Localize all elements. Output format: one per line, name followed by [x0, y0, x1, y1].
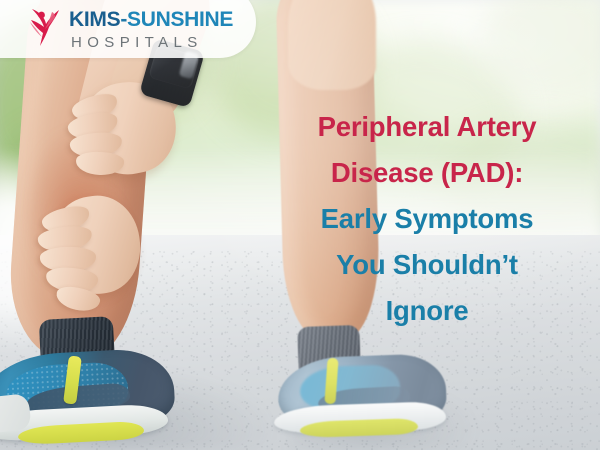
logo-wordmark: KIMS-SUNSHINE HOSPITALS	[69, 6, 233, 50]
headline-line-1: Peripheral Artery	[262, 104, 592, 150]
brand-logo[interactable]: KIMS-SUNSHINE HOSPITALS	[28, 6, 233, 50]
logo-subtitle: HOSPITALS	[69, 35, 233, 50]
kims-sunshine-figure-mark	[28, 6, 62, 48]
headline-line-3: Early Symptoms	[262, 196, 592, 242]
headline-line-2: Disease (PAD):	[262, 150, 592, 196]
pad-awareness-poster: KIMS-SUNSHINE HOSPITALS Peripheral Arter…	[0, 0, 600, 450]
headline-line-4: You Shouldn’t	[262, 242, 592, 288]
logo-name-sunshine: SUNSHINE	[127, 8, 233, 31]
logo-name-separator: -	[120, 8, 127, 31]
logo-name-kims: KIMS	[69, 8, 120, 31]
right-knee	[288, 0, 376, 90]
headline-line-5: Ignore	[262, 288, 592, 334]
page-title: Peripheral Artery Disease (PAD): Early S…	[262, 104, 592, 334]
logo-name-line: KIMS-SUNSHINE	[69, 9, 233, 30]
